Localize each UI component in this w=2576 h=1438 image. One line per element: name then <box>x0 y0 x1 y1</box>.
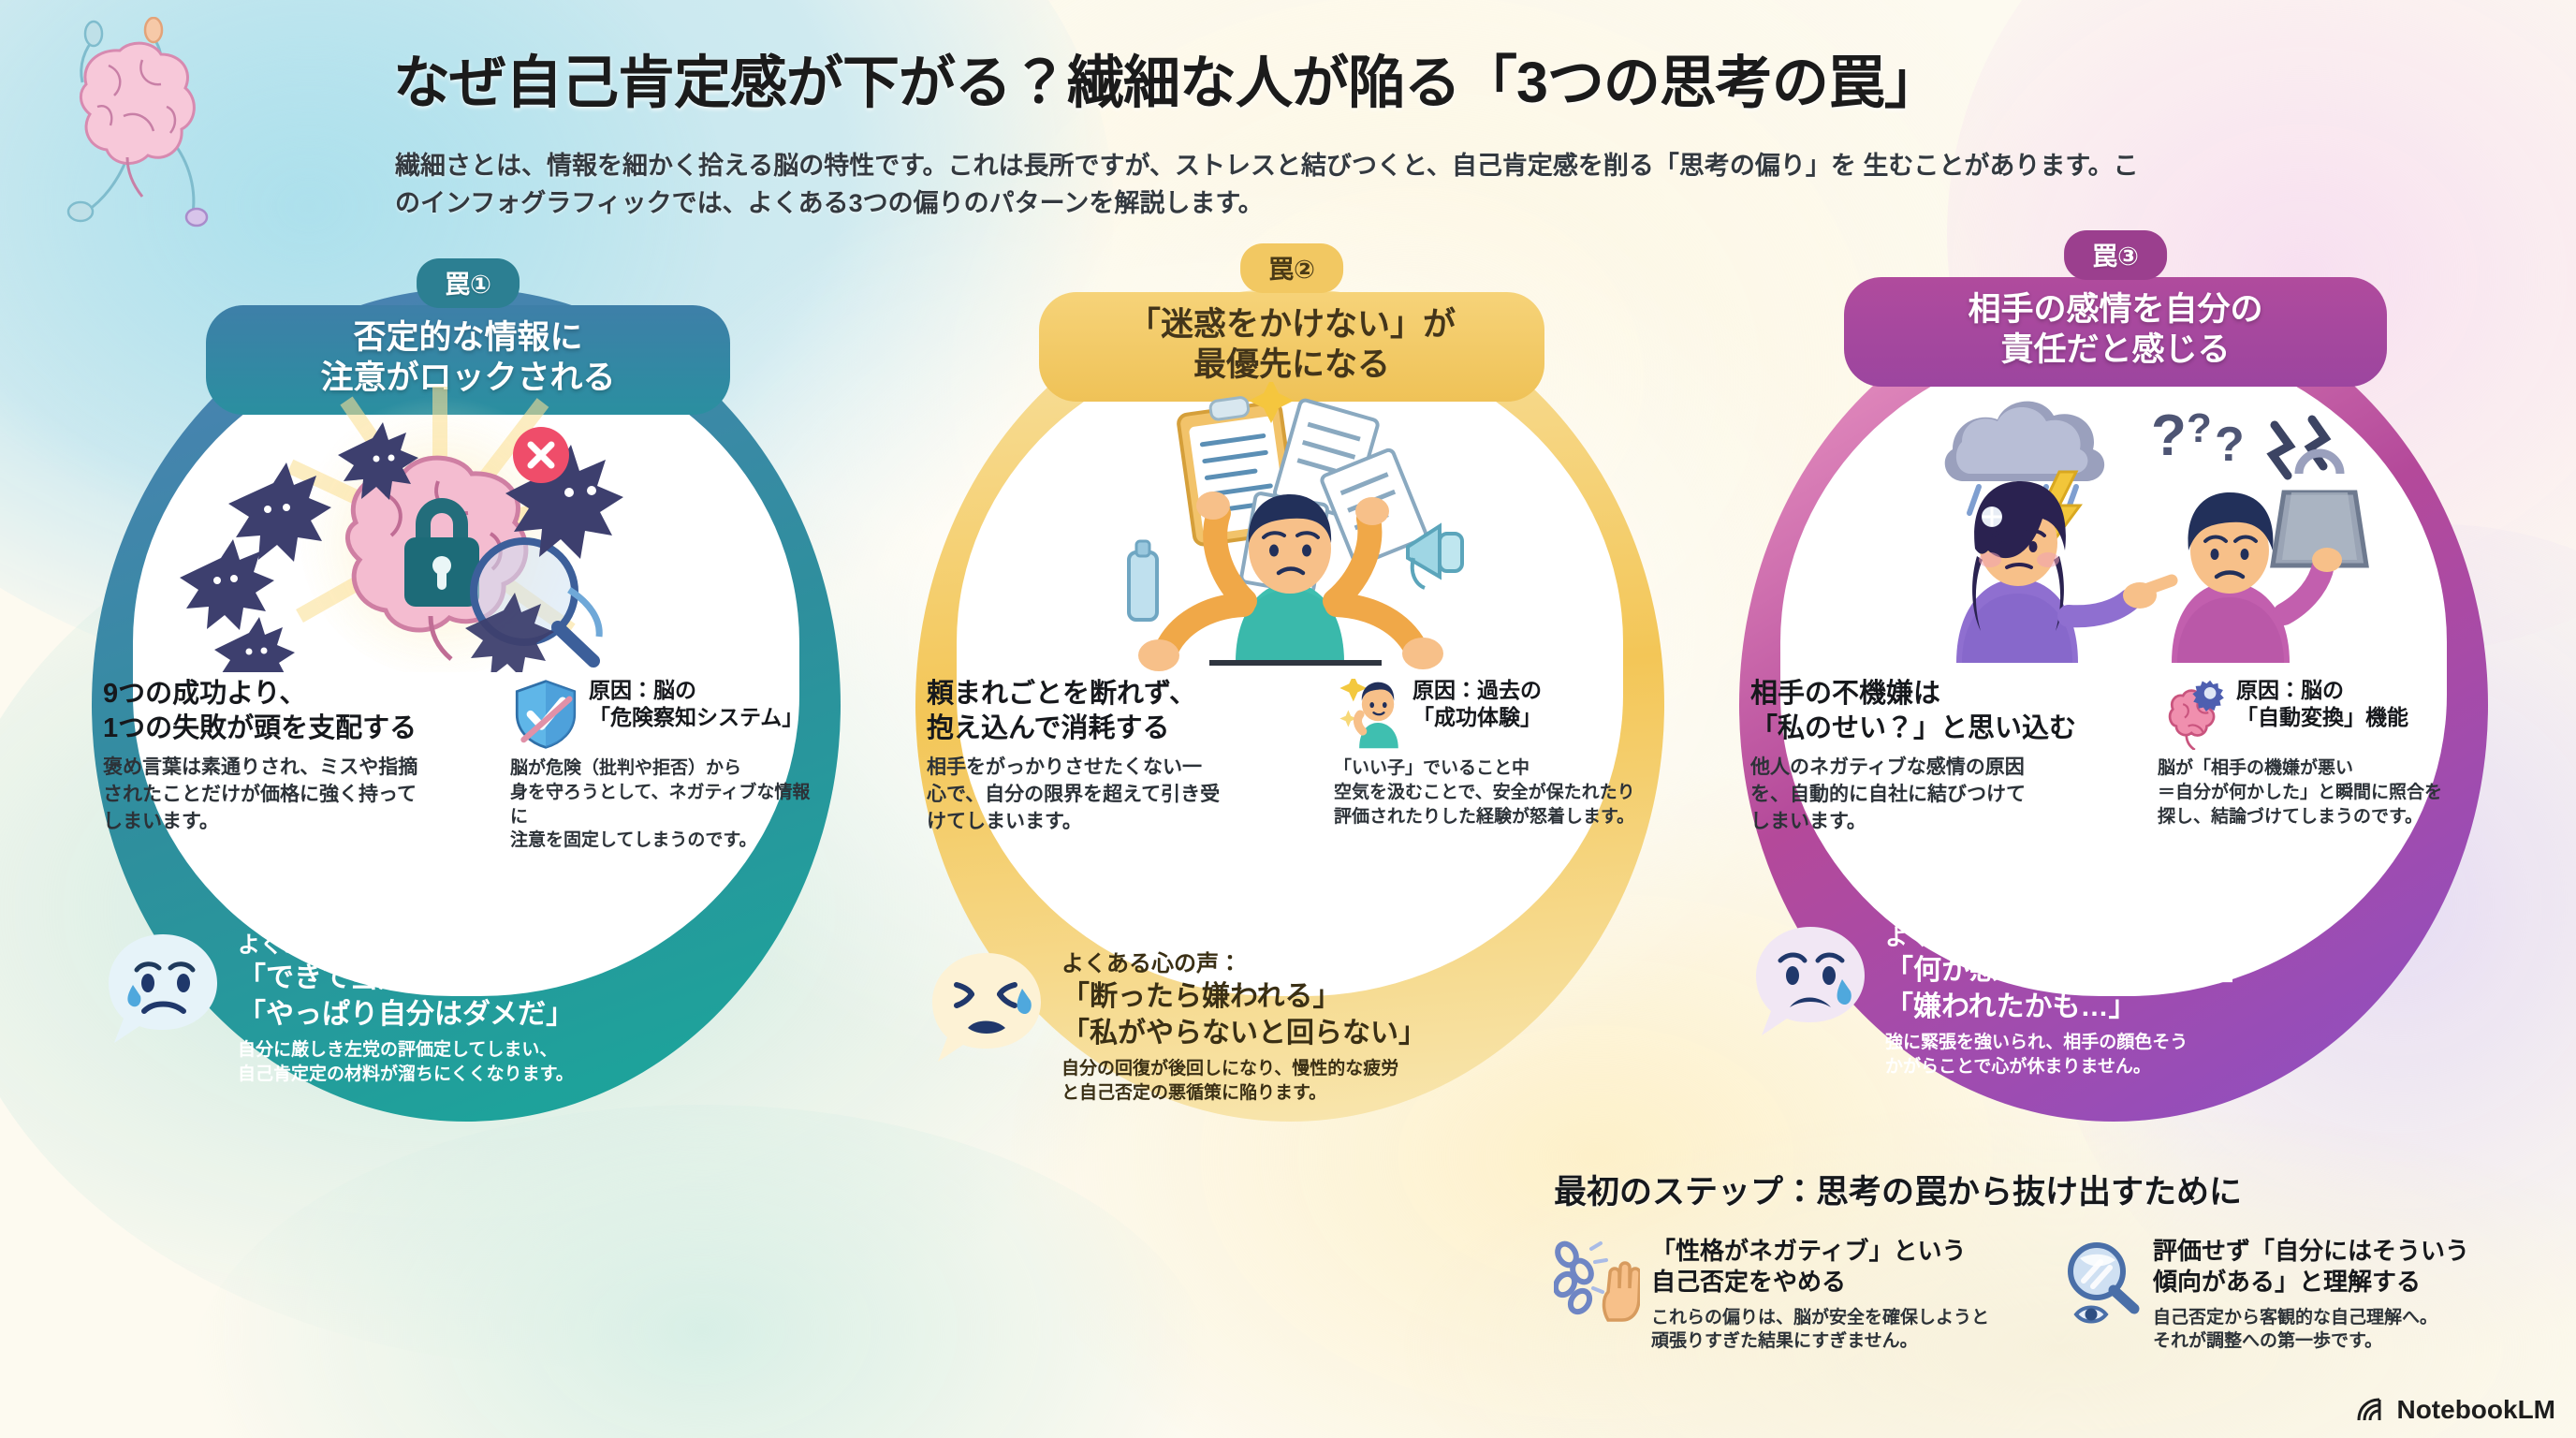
notebooklm-icon <box>2355 1398 2387 1422</box>
trap-fact-main-2: 頼まれごとを断れず、 抱え込んで消耗する 相手をがっかりさせたくない一 心で、自… <box>927 677 1315 836</box>
trap-voice-1: よくある心の声： 「できて当然」 「やっぱり自分はダメだ」 自分に厳しき左党の評… <box>101 925 841 1087</box>
footer-title: 最初のステップ：思考の罠から抜け出すために <box>1554 1166 2546 1213</box>
trap-voice-lead-2: よくある心の声： <box>1061 949 1427 978</box>
trap-voice-quotes-2: 「断ったら嫌われる」 「私がやらないと回らない」 <box>1061 978 1427 1051</box>
trap-cause-1: 原因：脳の 「危険察知システム」 脳が危険（批判や拒否）から 身を守ろうとして、… <box>505 677 823 853</box>
trap-fact-body-3: 他人のネガティブな感情の原因 を、自動的に自社に結びつけて しまいます。 <box>1750 755 2139 836</box>
footer-step-heading-2: 評価せず「自分にはそういう 傾向がある」と理解する <box>2153 1236 2469 1299</box>
trap-fact-body-1: 褒め言葉は素通りされ、ミスや指摘 されたことだけが価格に強く持って しまいます。 <box>103 755 491 836</box>
overwhelmed-person-papers-icon <box>955 382 1625 672</box>
sad-sweat-face-icon <box>101 929 225 1049</box>
trap-fact-main-3: 相手の不機嫌は 「私のせい？」と思い込む 他人のネガティブな感情の原因 を、自動… <box>1750 677 2139 836</box>
trap-voice-note-2: 自分の回復が後回しになり、慢性的な疲労 と自己否定の悪循策に陥ります。 <box>1061 1057 1427 1106</box>
trap-cause-3: 原因：脳の 「自動変換」機能 脳が「相手の機嫌が悪い ＝自分が何かした」と瞬間に… <box>2152 677 2470 829</box>
trap-card-1: 否定的な情報に 注意がロックされる 罠① <box>47 251 889 1150</box>
brain-icon <box>37 17 309 260</box>
header: なぜ自己肯定感が下がる？繊細な人が陥る「3つの思考の罠」 繊細さとは、情報を細か… <box>0 0 2576 253</box>
storm-cloud-two-people-icon: ? ? ? <box>1778 382 2449 672</box>
trap-fact-heading-3: 相手の不機嫌は 「私のせい？」と思い込む <box>1750 677 2139 746</box>
page-subtitle: 繊細さとは、情報を細かく拾える脳の特性です。これは長所ですが、ストレスと結びつく… <box>395 148 2155 223</box>
trap-fact-body-2: 相手をがっかりさせたくない一 心で、自分の限界を超えて引き受 けてしまいます。 <box>927 755 1315 836</box>
trap-voice-note-3: 強に緊張を強いられ、相手の顔色そう かがらことで心が休まりません。 <box>1885 1031 2250 1079</box>
footer-step-body-1: これらの偏りは、脳が安全を確保しようと 頑張りすぎた結果にすぎません。 <box>1651 1306 1989 1355</box>
trap-cause-heading-1: 原因：脳の 「危険察知システム」 <box>589 677 803 731</box>
brain-lock-magnifier-icon <box>131 382 801 672</box>
trap-cause-heading-3: 原因：脳の 「自動変換」機能 <box>2236 677 2408 731</box>
trap-voice-note-1: 自分に厳しき左党の評価定してしまい、 自己肯定定の材料が溜ちにくくなります。 <box>238 1038 574 1087</box>
trap-voice-3: よくある心の声： 「何か悪いことしたかな？」 「嫌われたかも…」 強に緊張を強い… <box>1749 917 2488 1079</box>
trap-card-3: 相手の感情を自分の 責任だと感じる 罠③ ? ? ? <box>1694 251 2537 1150</box>
trap-voice-quotes-1: 「できて当然」 「やっぱり自分はダメだ」 <box>238 960 574 1033</box>
trap-fact-main-1: 9つの成功より、 1つの失敗が頭を支配する 褒め言葉は素通りされ、ミスや指摘 さ… <box>103 677 491 836</box>
trap-voice-quotes-3: 「何か悪いことしたかな？」 「嫌われたかも…」 <box>1885 952 2250 1025</box>
trap-cause-body-1: 脳が危険（批判や拒否）から 身を守ろうとして、ネガティブな情報に 注意を固定して… <box>510 756 823 853</box>
chain-break-hand-icon <box>1554 1240 1640 1326</box>
trap-fact-heading-2: 頼まれごとを断れず、 抱え込んで消耗する <box>927 677 1315 746</box>
trap-card-2: 「迷惑をかけない」が 最優先になる 罠② <box>871 251 1713 1150</box>
trap-facts-3: 相手の不機嫌は 「私のせい？」と思い込む 他人のネガティブな感情の原因 を、自動… <box>1750 677 2471 836</box>
svg-text:?: ? <box>2151 404 2187 468</box>
brain-gear-icon <box>2158 679 2229 750</box>
trap-fact-heading-1: 9つの成功より、 1つの失敗が頭を支配する <box>103 677 491 746</box>
trap-voice-2: よくある心の声： 「断ったら嫌われる」 「私がやらないと回らない」 自分の回復が… <box>925 944 1664 1106</box>
magnifier-eye-icon <box>2056 1240 2142 1326</box>
crying-face-icon <box>1749 921 1872 1041</box>
svg-text:?: ? <box>2187 405 2212 451</box>
trap-facts-1: 9つの成功より、 1つの失敗が頭を支配する 褒め言葉は素通りされ、ミスや指摘 さ… <box>103 677 824 853</box>
weary-sweat-face-icon <box>925 947 1048 1067</box>
page-title: なぜ自己肯定感が下がる？繊細な人が陥る「3つの思考の罠」 <box>393 36 2434 119</box>
trap-cause-body-3: 脳が「相手の機嫌が悪い ＝自分が何かした」と瞬間に照合を 探し、結論づけてしまう… <box>2158 756 2470 829</box>
trap-badge-1: 罠① <box>417 258 520 308</box>
trap-facts-2: 頼まれごとを断れず、 抱え込んで消耗する 相手をがっかりさせたくない一 心で、自… <box>927 677 1647 836</box>
notebooklm-label: NotebookLM <box>2396 1395 2555 1425</box>
notebooklm-watermark: NotebookLM <box>2355 1395 2555 1425</box>
trap-cause-heading-2: 原因：過去の 「成功体験」 <box>1412 677 1542 731</box>
footer-step-body-2: 自己否定から客観的な自己理解へ。 それが調整への第一歩です。 <box>2153 1306 2469 1355</box>
shield-check-icon <box>510 679 581 750</box>
trap-voice-lead-1: よくある心の声： <box>238 931 574 960</box>
good-child-star-icon <box>1334 679 1405 750</box>
trap-cause-2: 原因：過去の 「成功体験」 「いい子」でいること中 空気を汲むことで、安全が保た… <box>1328 677 1647 829</box>
trap-voice-lead-3: よくある心の声： <box>1885 923 2250 952</box>
trap-title-plate-3: 相手の感情を自分の 責任だと感じる <box>1844 277 2387 387</box>
footer-step-2: 評価せず「自分にはそういう 傾向がある」と理解する 自己否定から客観的な自己理解… <box>2056 1236 2524 1354</box>
footer-steps: 「性格がネガティブ」という 自己否定をやめる これらの偏りは、脳が安全を確保しよ… <box>1554 1236 2546 1354</box>
svg-text:?: ? <box>2215 418 2245 472</box>
footer-step-heading-1: 「性格がネガティブ」という 自己否定をやめる <box>1651 1236 1989 1299</box>
footer-step-1: 「性格がネガティブ」という 自己否定をやめる これらの偏りは、脳が安全を確保しよ… <box>1554 1236 2022 1354</box>
trap-cause-body-2: 「いい子」でいること中 空気を汲むことで、安全が保たれたり 評価されたりした経験… <box>1334 756 1647 829</box>
